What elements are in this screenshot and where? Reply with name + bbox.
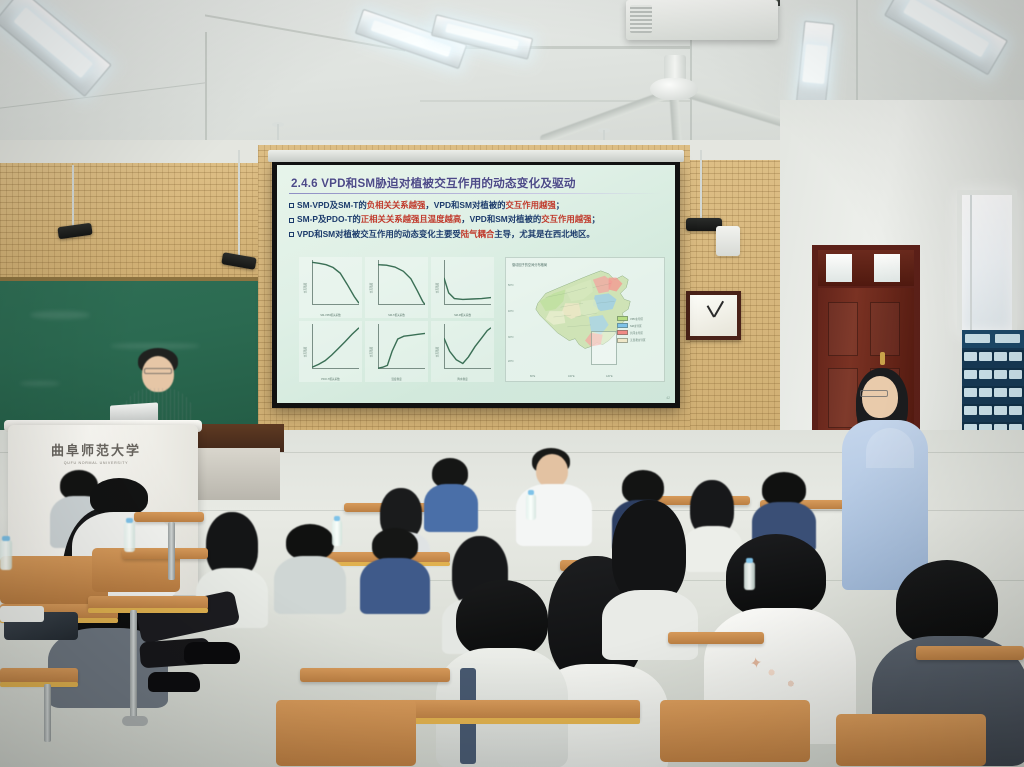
water-bottle: [744, 562, 755, 590]
legend-item: 无显著主导区: [617, 338, 661, 343]
door-handle[interactable]: [880, 352, 885, 365]
mini-chart: 交互强度 SM-VPD相关系数: [299, 257, 362, 318]
legend-item: VPD主导区: [617, 316, 661, 321]
legend-swatch: [617, 323, 628, 328]
acoustic-wall-panel: [0, 163, 258, 281]
desk: [668, 632, 764, 644]
desk: [134, 512, 204, 522]
desk: [916, 646, 1024, 660]
bullet-square-icon: [289, 232, 294, 237]
bullet-square-icon: [289, 218, 294, 223]
chair: [836, 714, 986, 766]
mini-chart: 交互强度 SM-T相关系数: [365, 257, 428, 318]
slide-title: 2.4.6 VPD和SM胁迫对植被交互作用的动态变化及驱动: [291, 175, 576, 191]
bullet-item: VPD和SM对植被交互作用的动态变化主要受陆气耦合主导，尤其是在西北地区。: [289, 230, 675, 239]
bullet-square-icon: [289, 203, 294, 208]
legend-item: SM主导区: [617, 323, 661, 328]
standing-attendee-glasses: [860, 390, 888, 397]
slide-bullet-list: SM-VPD及SM-T的负相关关系越强，VPD和SM对植被的交互作用越强； SM…: [289, 201, 675, 244]
tshirt-graphic: ✦: [749, 653, 764, 674]
water-bottle: [526, 494, 536, 520]
presenter-glasses: [144, 368, 172, 374]
projection-screen-case: [268, 150, 684, 162]
door-transom: [818, 250, 914, 286]
wall-speaker: [716, 226, 740, 256]
slide-chart-grid: 交互强度 SM-VPD相关系数 交互强度 SM-T相关系数 交互强度 SM-P相…: [299, 257, 494, 382]
slide-map-panel: 驱动因子的空间分布格局: [505, 257, 665, 382]
mini-chart: 交互强度 降水梯度: [431, 321, 494, 382]
bullet-item: SM-P及PDO-T的正相关关系越强且温度越高，VPD和SM对植被的交互作用越强…: [289, 215, 675, 224]
wall-clock: [686, 291, 741, 340]
hoodie-hood: [866, 428, 914, 468]
chair: [660, 700, 810, 762]
water-bottle: [124, 522, 135, 552]
mini-chart: 交互强度 SM-P相关系数: [431, 257, 494, 318]
desk: [300, 668, 450, 682]
water-bottle: [332, 520, 342, 546]
university-logo: 曲阜师范大学 QUFU NORMAL UNIVERSITY: [44, 440, 148, 474]
desk: [400, 700, 640, 720]
water-bottle: [0, 540, 12, 570]
map-inset-south-sea: [591, 331, 617, 365]
shoe: [184, 642, 240, 664]
window: [957, 190, 1017, 335]
chair: [276, 700, 416, 766]
title-divider: [289, 193, 661, 194]
legend-item: 共同主导区: [617, 330, 661, 335]
legend-swatch: [617, 338, 628, 343]
slide-page-number: 42: [666, 396, 670, 400]
map-legend: VPD主导区 SM主导区 共同主导区 无显著主导区: [617, 316, 661, 345]
clock-minute-hand: [713, 300, 723, 316]
desk-foot: [122, 716, 148, 726]
classroom-photo: 2.4.6 VPD和SM胁迫对植被交互作用的动态变化及驱动 SM-VPD及SM-…: [0, 0, 1024, 767]
presentation-slide: 2.4.6 VPD和SM胁迫对植被交互作用的动态变化及驱动 SM-VPD及SM-…: [277, 165, 675, 403]
bullet-item: SM-VPD及SM-T的负相关关系越强，VPD和SM对植被的交互作用越强；: [289, 201, 675, 210]
mini-chart: 交互强度 温度梯度: [365, 321, 428, 382]
legend-swatch: [617, 316, 628, 321]
paper-on-desk: [0, 606, 44, 622]
legend-swatch: [617, 330, 628, 335]
projection-screen[interactable]: 2.4.6 VPD和SM胁迫对植被交互作用的动态变化及驱动 SM-VPD及SM-…: [272, 160, 680, 408]
mini-chart: 交互强度 PDO-T相关系数: [299, 321, 362, 382]
shoe: [148, 672, 200, 692]
